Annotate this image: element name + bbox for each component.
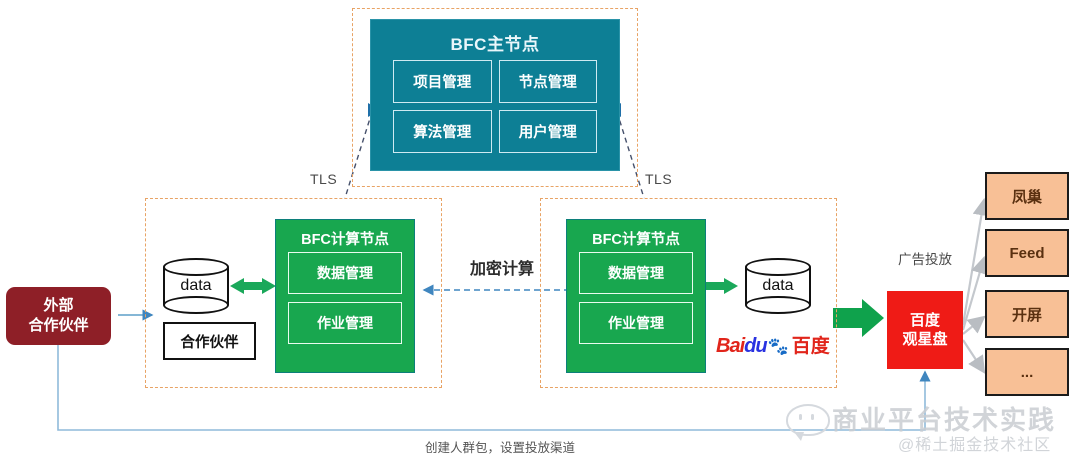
- right-bfc-compute-node[interactable]: BFC计算节点 数据管理 作业管理: [566, 219, 706, 373]
- baidu-logo-du: du: [744, 336, 766, 356]
- left-partner-box[interactable]: 合作伙伴: [163, 322, 256, 360]
- left-module-data-mgmt[interactable]: 数据管理: [288, 252, 402, 294]
- baidu-logo-cn: 百度: [792, 337, 830, 356]
- channel-box-fengchao[interactable]: 凤巢: [985, 172, 1069, 220]
- master-module-algorithm[interactable]: 算法管理: [393, 110, 492, 153]
- platform-line1: 百度: [910, 311, 940, 331]
- right-module-job-mgmt[interactable]: 作业管理: [579, 302, 693, 344]
- baidu-logo-bai: Bai: [716, 336, 744, 356]
- paw-icon: 🐾: [768, 338, 789, 355]
- channel-box-kaiping[interactable]: 开屏: [985, 290, 1069, 338]
- watermark-main: 商业平台技术实践: [832, 400, 1056, 437]
- left-compute-node-title: BFC计算节点: [276, 228, 414, 249]
- external-partner-box[interactable]: 外部 合作伙伴: [6, 287, 111, 345]
- right-module-data-mgmt[interactable]: 数据管理: [579, 252, 693, 294]
- baidu-logo: Bai du 🐾 百度: [716, 330, 830, 356]
- external-partner-line1: 外部: [43, 296, 73, 316]
- wechat-logo-icon: [786, 404, 830, 436]
- right-data-label: data: [745, 277, 811, 295]
- watermark-sub: @稀土掘金技术社区: [898, 431, 1051, 455]
- right-compute-node-title: BFC计算节点: [567, 228, 705, 249]
- master-module-user[interactable]: 用户管理: [499, 110, 598, 153]
- left-module-job-mgmt[interactable]: 作业管理: [288, 302, 402, 344]
- bottom-flow-label: 创建人群包，设置投放渠道: [425, 437, 575, 456]
- right-compute-node-modules: 数据管理 作业管理: [579, 252, 693, 344]
- left-data-label: data: [163, 277, 229, 295]
- external-partner-line2: 合作伙伴: [28, 316, 88, 336]
- left-data-cylinder: data: [163, 258, 229, 314]
- diagram-canvas: BFC主节点 项目管理 节点管理 算法管理 用户管理 TLS TLS data …: [0, 0, 1080, 460]
- master-module-project[interactable]: 项目管理: [393, 60, 492, 103]
- tls-label-left: TLS: [310, 171, 337, 187]
- baidu-guanxingpan-box[interactable]: 百度 观星盘: [887, 291, 963, 369]
- channel-box-more[interactable]: ...: [985, 348, 1069, 396]
- master-node-modules: 项目管理 节点管理 算法管理 用户管理: [393, 60, 597, 153]
- tls-label-right: TLS: [645, 171, 672, 187]
- bfc-master-node[interactable]: BFC主节点 项目管理 节点管理 算法管理 用户管理: [370, 19, 620, 171]
- platform-line2: 观星盘: [902, 330, 947, 350]
- right-data-cylinder: data: [745, 258, 811, 314]
- channel-box-feed[interactable]: Feed: [985, 229, 1069, 277]
- left-compute-node-modules: 数据管理 作业管理: [288, 252, 402, 344]
- master-node-title: BFC主节点: [371, 30, 619, 55]
- left-bfc-compute-node[interactable]: BFC计算节点 数据管理 作业管理: [275, 219, 415, 373]
- encrypted-compute-label: 加密计算: [452, 255, 552, 279]
- master-module-node[interactable]: 节点管理: [499, 60, 598, 103]
- ad-delivery-label: 广告投放: [898, 248, 952, 268]
